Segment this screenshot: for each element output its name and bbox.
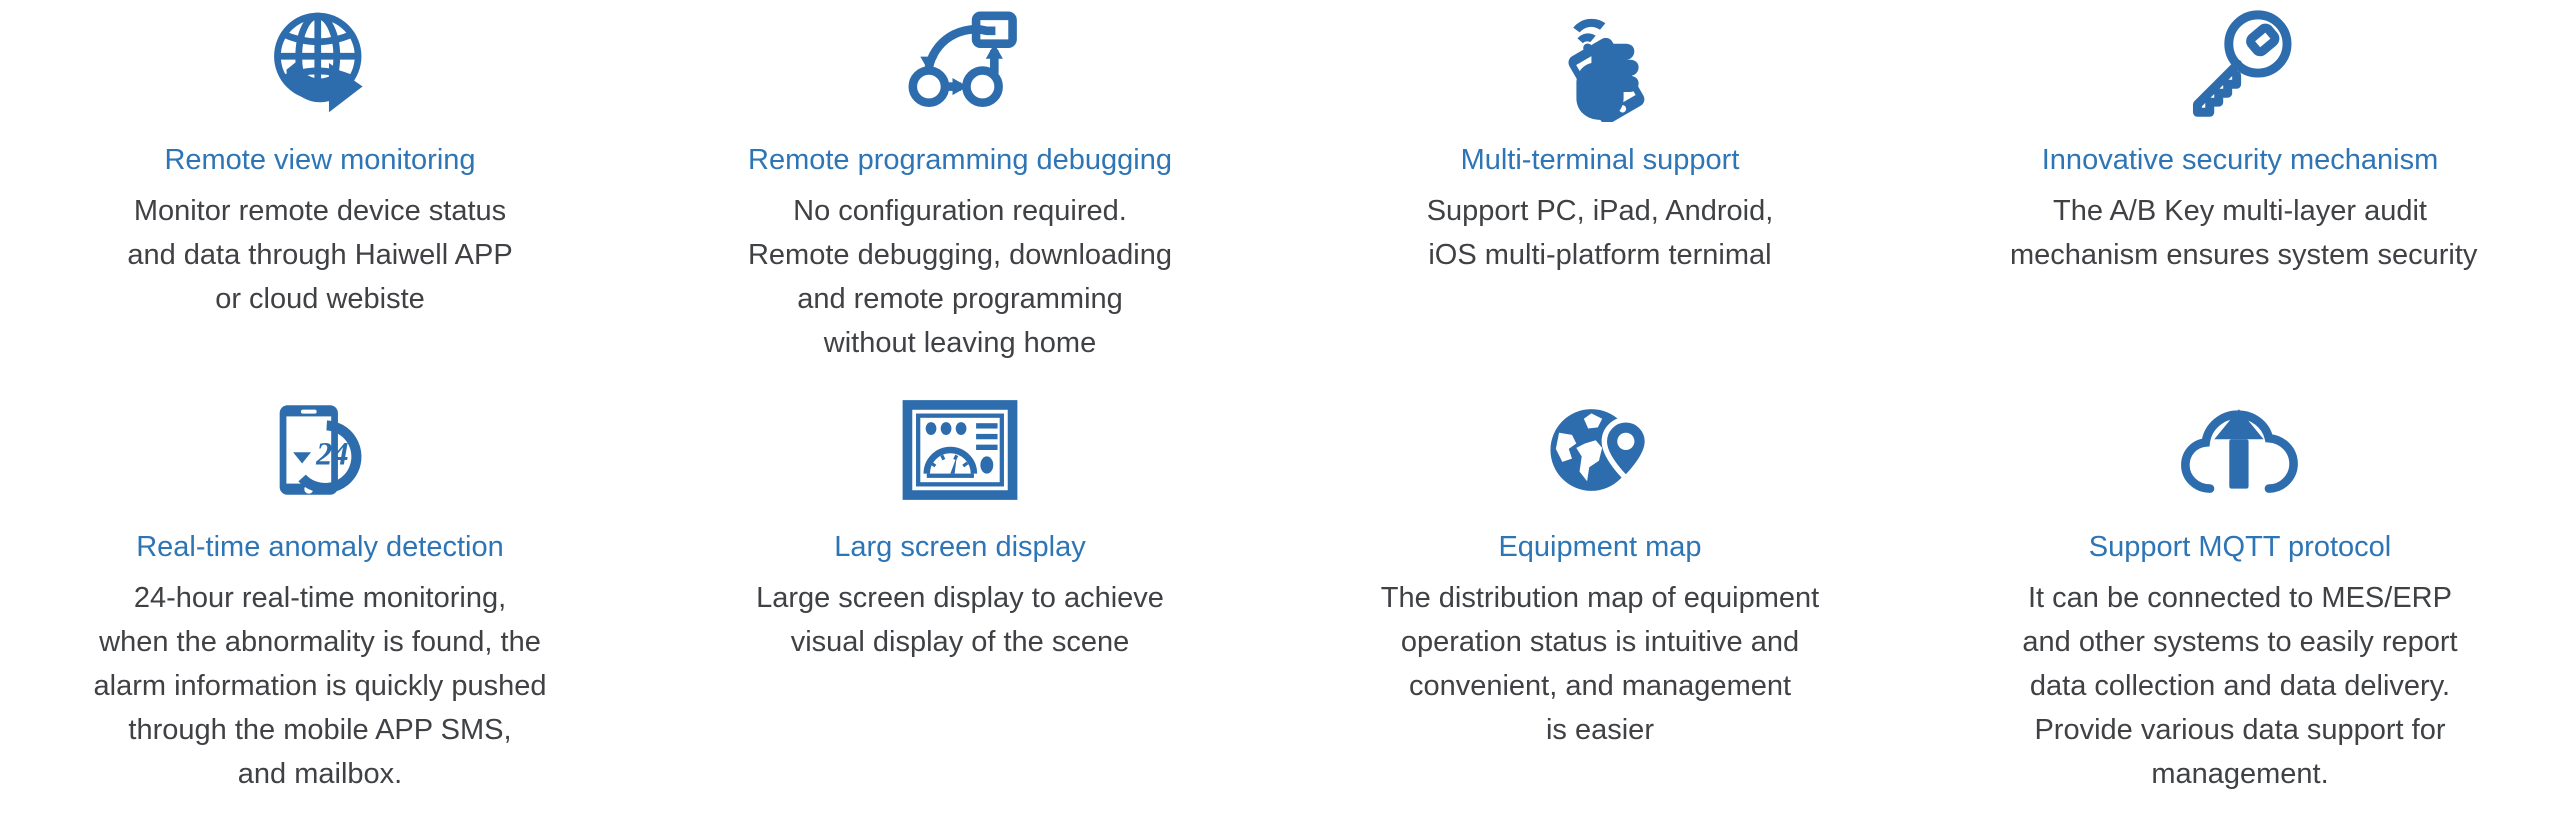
desc-line: or cloud webiste xyxy=(127,277,512,321)
feature-description: Monitor remote device status and data th… xyxy=(127,189,512,321)
feature-title: Support MQTT protocol xyxy=(2089,530,2391,564)
feature-description: Support PC, iPad, Android, iOS multi-pla… xyxy=(1427,189,1774,277)
hand-phone-wifi-icon xyxy=(1546,0,1654,125)
feature-card-remote-view-monitoring[interactable]: Remote view monitoring Monitor remote de… xyxy=(0,0,640,390)
feature-description: No configuration required. Remote debugg… xyxy=(748,189,1172,365)
cloud-upload-icon xyxy=(2180,390,2300,510)
feature-title: Larg screen display xyxy=(834,530,1085,564)
desc-line: The distribution map of equipment xyxy=(1381,576,1819,620)
feature-title: Remote programming debugging xyxy=(748,143,1172,177)
feature-title: Innovative security mechanism xyxy=(2042,143,2439,177)
desc-line: mechanism ensures system security xyxy=(2010,233,2470,277)
desc-line: Large screen display to achieve xyxy=(756,576,1164,620)
desc-line: operation status is intuitive and xyxy=(1381,620,1819,664)
feature-grid: Remote view monitoring Monitor remote de… xyxy=(0,0,2560,819)
feature-description: 24-hour real-time monitoring, when the a… xyxy=(94,576,547,796)
desc-line: iOS multi-platform ternimal xyxy=(1427,233,1774,277)
feature-card-larg-screen-display[interactable]: Larg screen display Large screen display… xyxy=(640,390,1280,819)
desc-line: without leaving home xyxy=(748,321,1172,365)
desc-line: Monitor remote device status xyxy=(127,189,512,233)
phone-24h-icon: 24 xyxy=(264,390,376,510)
desc-line: visual display of the scene xyxy=(756,620,1164,664)
desc-line: It can be connected to MES/ERP xyxy=(2022,576,2457,620)
desc-line: No configuration required. xyxy=(748,189,1172,233)
desc-line: 24-hour real-time monitoring, xyxy=(94,576,547,620)
desc-line: data collection and data delivery. xyxy=(2022,664,2457,708)
svg-text:24: 24 xyxy=(315,437,348,473)
desc-line: Provide various data support for xyxy=(2022,708,2457,752)
desc-line: The A/B Key multi-layer audit xyxy=(2010,189,2470,233)
feature-description: It can be connected to MES/ERP and other… xyxy=(2022,576,2457,796)
feature-card-remote-programming-debugging[interactable]: Remote programming debugging No configur… xyxy=(640,0,1280,390)
feature-title: Remote view monitoring xyxy=(164,143,475,177)
feature-description: Large screen display to achieve visual d… xyxy=(756,576,1164,664)
desc-line: management. xyxy=(2022,752,2457,796)
desc-line: and data through Haiwell APP xyxy=(127,233,512,277)
desc-line: when the abnormality is found, the xyxy=(94,620,547,664)
desc-line: and mailbox. xyxy=(94,752,547,796)
feature-title: Multi-terminal support xyxy=(1461,143,1740,177)
desc-line: alarm information is quickly pushed xyxy=(94,664,547,708)
key-icon xyxy=(2184,0,2296,125)
feature-title: Equipment map xyxy=(1498,530,1701,564)
desc-line: through the mobile APP SMS, xyxy=(94,708,547,752)
desc-line: Support PC, iPad, Android, xyxy=(1427,189,1774,233)
feature-description: The A/B Key multi-layer audit mechanism … xyxy=(2010,189,2470,277)
feature-card-multi-terminal-support[interactable]: Multi-terminal support Support PC, iPad,… xyxy=(1280,0,1920,390)
desc-line: and remote programming xyxy=(748,277,1172,321)
flowchart-icon xyxy=(901,0,1019,125)
globe-map-pin-icon xyxy=(1544,390,1656,510)
desc-line: and other systems to easily report xyxy=(2022,620,2457,664)
desc-line: convenient, and management xyxy=(1381,664,1819,708)
feature-description: The distribution map of equipment operat… xyxy=(1381,576,1819,752)
dashboard-gauge-icon xyxy=(901,390,1019,510)
feature-card-equipment-map[interactable]: Equipment map The distribution map of eq… xyxy=(1280,390,1920,819)
feature-card-support-mqtt-protocol[interactable]: Support MQTT protocol It can be connecte… xyxy=(1920,390,2560,819)
feature-card-real-time-anomaly-detection[interactable]: 24 Real-time anomaly detection 24-hour r… xyxy=(0,390,640,819)
globe-arrow-icon xyxy=(264,0,376,125)
feature-title: Real-time anomaly detection xyxy=(136,530,504,564)
desc-line: Remote debugging, downloading xyxy=(748,233,1172,277)
feature-card-innovative-security-mechanism[interactable]: Innovative security mechanism The A/B Ke… xyxy=(1920,0,2560,390)
desc-line: is easier xyxy=(1381,708,1819,752)
